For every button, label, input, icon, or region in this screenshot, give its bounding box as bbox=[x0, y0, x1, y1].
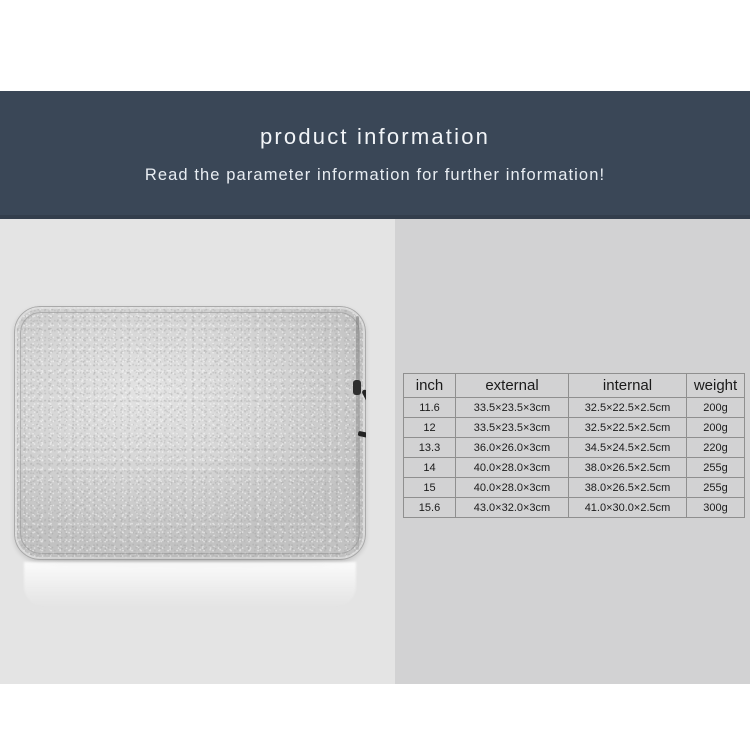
cell-weight: 220g bbox=[687, 438, 745, 458]
fabric-texture bbox=[14, 306, 366, 560]
cell-internal: 34.5×24.5×2.5cm bbox=[569, 438, 687, 458]
product-information-page: product information Read the parameter i… bbox=[0, 0, 750, 750]
cell-weight: 255g bbox=[687, 478, 745, 498]
spec-table-wrapper: inch external internal weight 11.6 33.5×… bbox=[403, 373, 744, 518]
cell-internal: 38.0×26.5×2.5cm bbox=[569, 458, 687, 478]
page-title: product information bbox=[260, 126, 490, 148]
cell-external: 40.0×28.0×3cm bbox=[456, 458, 569, 478]
cell-internal: 32.5×22.5×2.5cm bbox=[569, 418, 687, 438]
table-header-row: inch external internal weight bbox=[404, 374, 745, 398]
top-white-strip bbox=[0, 0, 750, 91]
cell-inch: 13.3 bbox=[404, 438, 456, 458]
spec-table-panel: inch external internal weight 11.6 33.5×… bbox=[395, 219, 750, 684]
page-subtitle: Read the parameter information for furth… bbox=[145, 167, 605, 184]
table-row: 13.3 36.0×26.0×3cm 34.5×24.5×2.5cm 220g bbox=[404, 438, 745, 458]
product-information-banner: product information Read the parameter i… bbox=[0, 91, 750, 219]
cell-external: 43.0×32.0×3cm bbox=[456, 498, 569, 518]
cell-internal: 41.0×30.0×2.5cm bbox=[569, 498, 687, 518]
cell-inch: 15.6 bbox=[404, 498, 456, 518]
table-row: 15 40.0×28.0×3cm 38.0×26.5×2.5cm 255g bbox=[404, 478, 745, 498]
product-reflection bbox=[24, 562, 356, 608]
content-area: inch external internal weight 11.6 33.5×… bbox=[0, 219, 750, 684]
cell-inch: 11.6 bbox=[404, 398, 456, 418]
cell-weight: 200g bbox=[687, 418, 745, 438]
specification-table: inch external internal weight 11.6 33.5×… bbox=[403, 373, 745, 518]
laptop-sleeve-body bbox=[14, 306, 366, 560]
column-header-internal: internal bbox=[569, 374, 687, 398]
cell-weight: 300g bbox=[687, 498, 745, 518]
table-row: 11.6 33.5×23.5×3cm 32.5×22.5×2.5cm 200g bbox=[404, 398, 745, 418]
cell-inch: 14 bbox=[404, 458, 456, 478]
table-row: 14 40.0×28.0×3cm 38.0×26.5×2.5cm 255g bbox=[404, 458, 745, 478]
column-header-inch: inch bbox=[404, 374, 456, 398]
table-row: 15.6 43.0×32.0×3cm 41.0×30.0×2.5cm 300g bbox=[404, 498, 745, 518]
column-header-weight: weight bbox=[687, 374, 745, 398]
table-row: 12 33.5×23.5×3cm 32.5×22.5×2.5cm 200g bbox=[404, 418, 745, 438]
cell-internal: 38.0×26.5×2.5cm bbox=[569, 478, 687, 498]
bottom-white-strip bbox=[0, 684, 750, 750]
cell-weight: 200g bbox=[687, 398, 745, 418]
cell-internal: 32.5×22.5×2.5cm bbox=[569, 398, 687, 418]
cell-inch: 12 bbox=[404, 418, 456, 438]
cell-weight: 255g bbox=[687, 458, 745, 478]
cell-external: 36.0×26.0×3cm bbox=[456, 438, 569, 458]
product-photo bbox=[0, 280, 378, 610]
column-header-external: external bbox=[456, 374, 569, 398]
cell-external: 33.5×23.5×3cm bbox=[456, 398, 569, 418]
product-image-panel bbox=[0, 219, 395, 684]
cell-external: 40.0×28.0×3cm bbox=[456, 478, 569, 498]
cell-external: 33.5×23.5×3cm bbox=[456, 418, 569, 438]
cell-inch: 15 bbox=[404, 478, 456, 498]
